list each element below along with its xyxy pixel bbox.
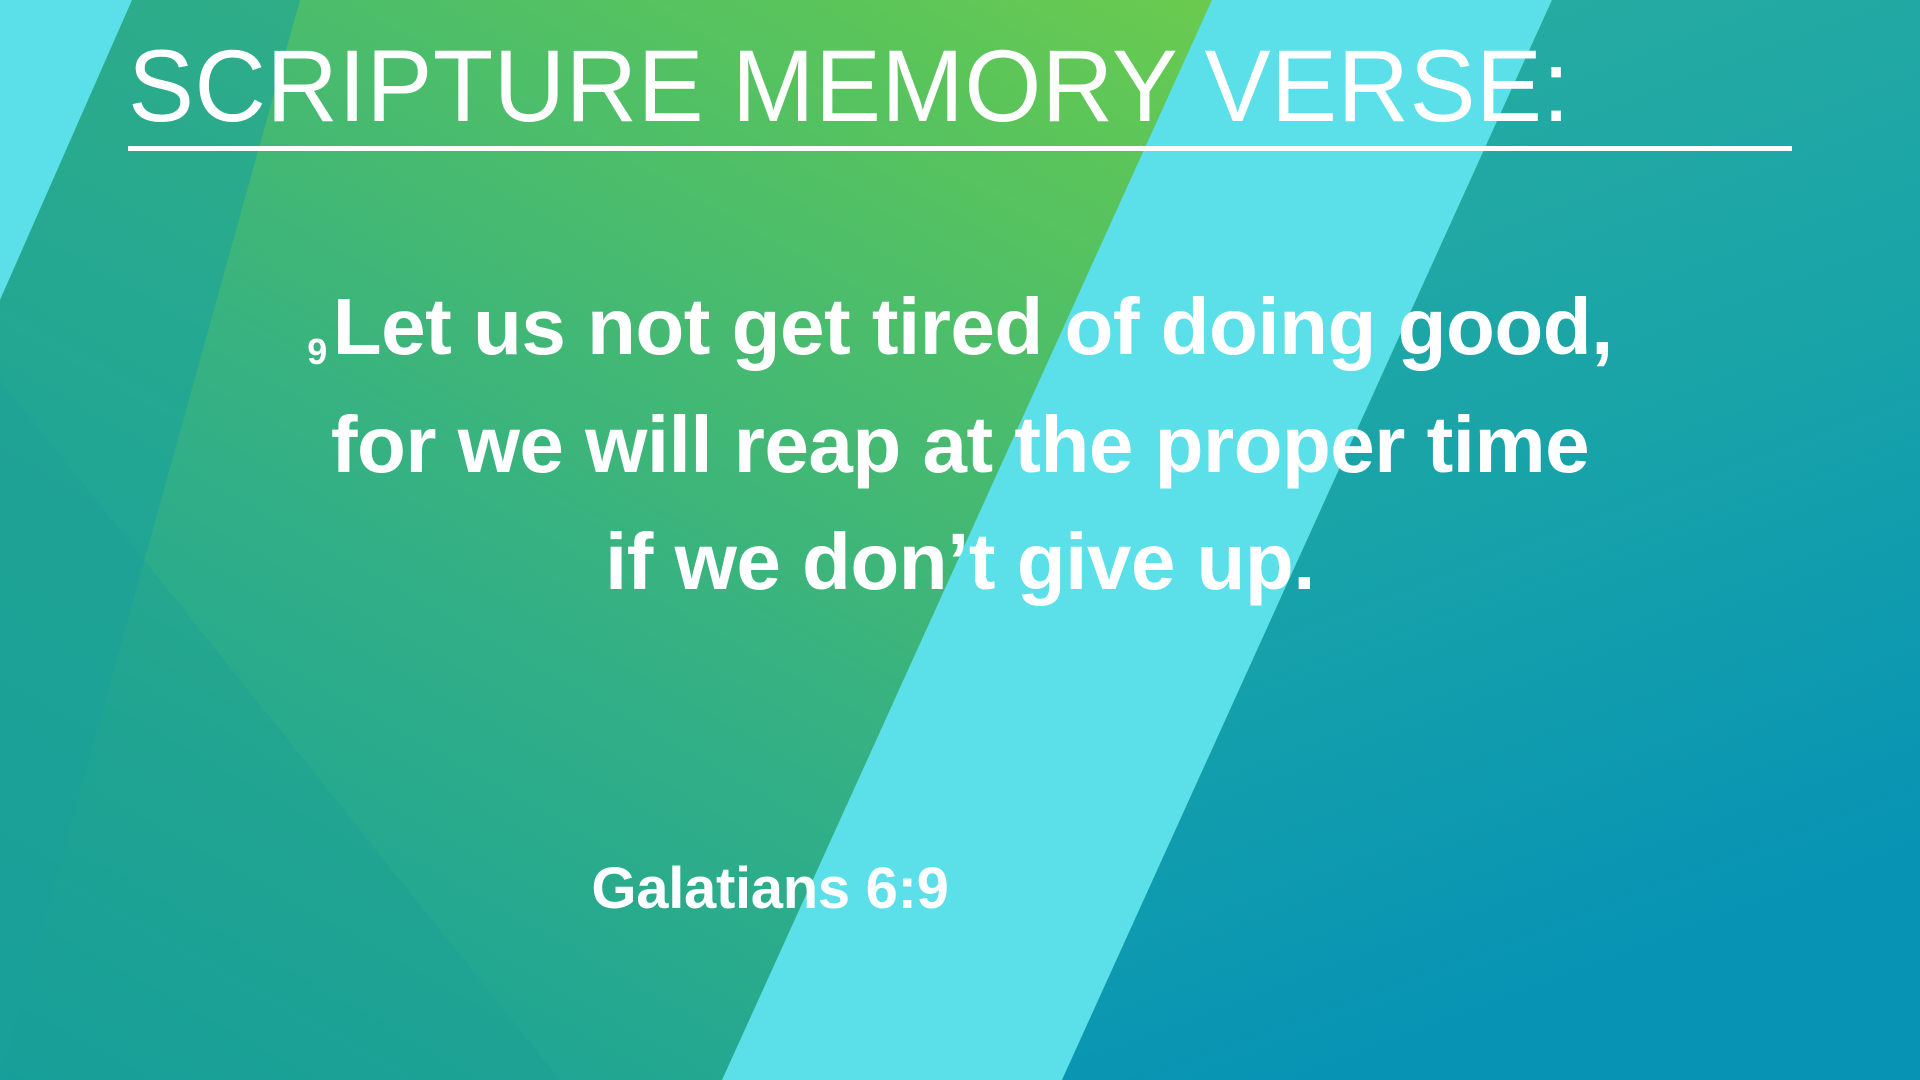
- verse-line-3: if we don’t give up.: [120, 503, 1800, 621]
- verse-citation: Galatians 6:9: [120, 855, 1420, 922]
- verse-number: 9: [307, 331, 333, 372]
- verse-line-2: for we will reap at the proper time: [120, 386, 1800, 504]
- verse-line-1: 9Let us not get tired of doing good,: [120, 268, 1800, 386]
- title-underline-rule: [128, 146, 1792, 151]
- title-block: SCRIPTURE MEMORY VERSE:: [128, 32, 1792, 151]
- verse-text-block: 9Let us not get tired of doing good, for…: [120, 268, 1800, 621]
- verse-line-1-text: Let us not get tired of doing good,: [333, 282, 1613, 371]
- page-title: SCRIPTURE MEMORY VERSE:: [128, 32, 1742, 140]
- scripture-verse-slide: SCRIPTURE MEMORY VERSE: 9Let us not get …: [0, 0, 1920, 1080]
- slide-content: SCRIPTURE MEMORY VERSE: 9Let us not get …: [0, 0, 1920, 1080]
